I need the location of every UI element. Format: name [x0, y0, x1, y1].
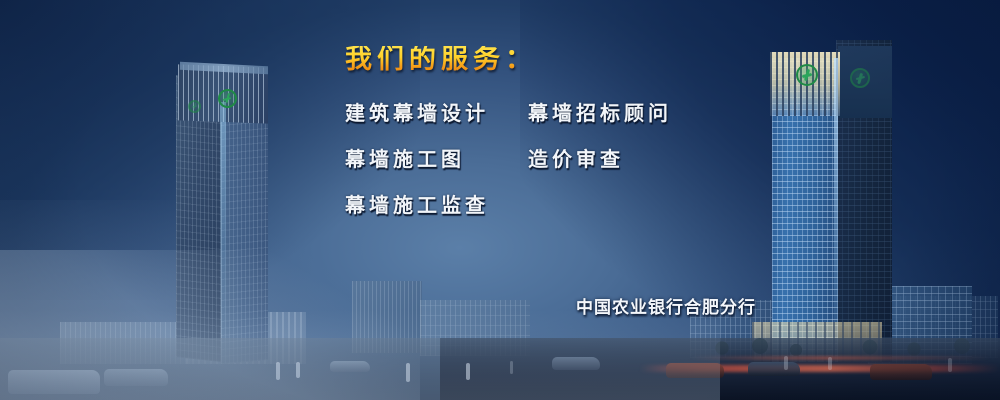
service-item: 造价审查 — [528, 147, 728, 174]
service-item — [528, 193, 728, 220]
service-row: 幕墙施工图 造价审查 — [345, 147, 765, 174]
service-banner: 我们的服务： 建筑幕墙设计 幕墙招标顾问 幕墙施工图 造价审查 幕墙施工监查 中… — [0, 0, 1000, 400]
service-item: 幕墙施工图 — [345, 147, 528, 174]
service-item: 幕墙施工监查 — [345, 193, 528, 220]
service-list: 建筑幕墙设计 幕墙招标顾问 幕墙施工图 造价审查 幕墙施工监查 — [345, 101, 765, 220]
service-row: 幕墙施工监查 — [345, 193, 765, 220]
project-caption: 中国农业银行合肥分行 — [576, 293, 756, 318]
copy-block: 我们的服务： 建筑幕墙设计 幕墙招标顾问 幕墙施工图 造价审查 幕墙施工监查 — [345, 46, 765, 239]
headline: 我们的服务： — [345, 46, 537, 73]
service-item: 建筑幕墙设计 — [345, 101, 528, 128]
service-row: 建筑幕墙设计 幕墙招标顾问 — [345, 101, 765, 128]
service-item: 幕墙招标顾问 — [528, 101, 728, 128]
